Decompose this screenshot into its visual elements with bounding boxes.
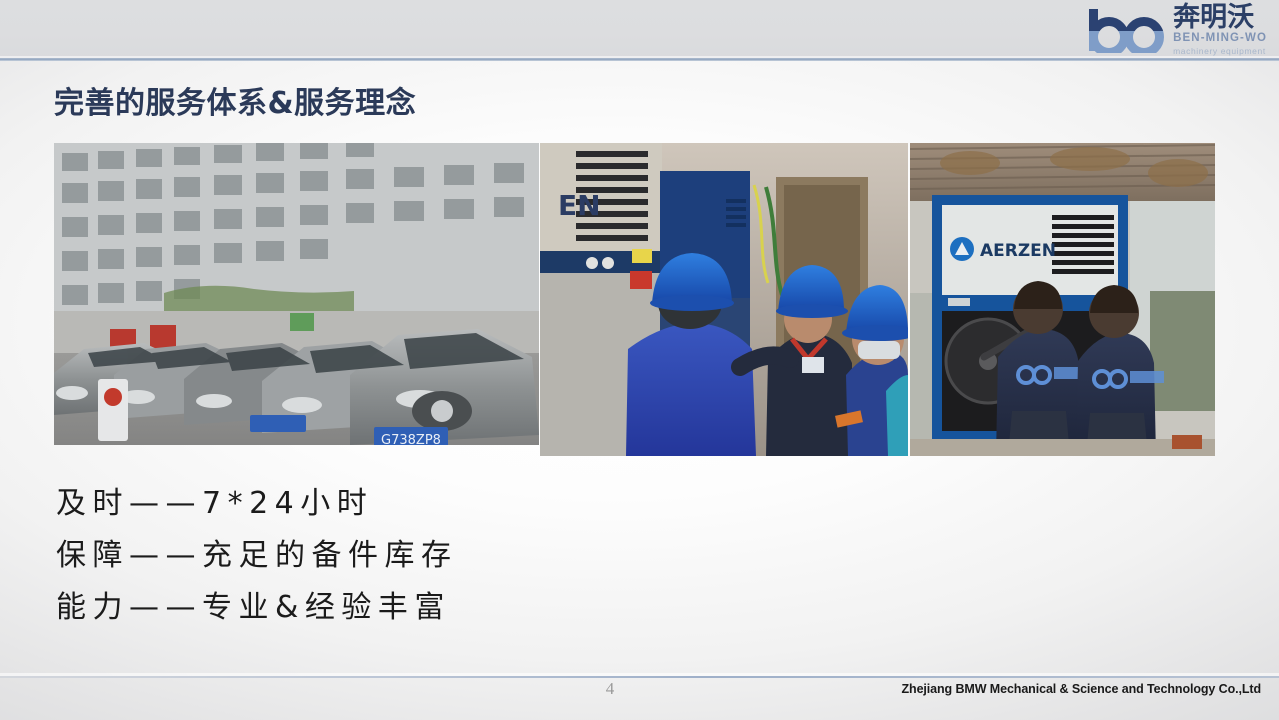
- service-line-1: 及时——7*24小时: [56, 478, 756, 530]
- photo-strip: G738ZP8: [54, 143, 1215, 456]
- service-line-3: 能力——专业&经验丰富: [56, 582, 756, 634]
- logo-wordmark: 奔明沃 BEN-MING-WO machinery equipment: [1173, 4, 1267, 56]
- svg-text:AERZEN: AERZEN: [980, 241, 1056, 261]
- logo-name-latin: BEN-MING-WO: [1173, 33, 1267, 45]
- service-principles-list: 及时——7*24小时 保障——充足的备件库存 能力——专业&经验丰富: [56, 478, 756, 634]
- bo-monogram-icon: [1083, 7, 1167, 53]
- header-divider: [0, 58, 1279, 61]
- footer-divider: [0, 676, 1279, 678]
- page-number: 4: [598, 679, 622, 699]
- logo-tagline: machinery equipment: [1173, 47, 1267, 56]
- footer-company-name: Zhejiang BMW Mechanical & Science and Te…: [902, 682, 1262, 696]
- service-line-2: 保障——充足的备件库存: [56, 530, 756, 582]
- company-logo: 奔明沃 BEN-MING-WO machinery equipment: [1083, 4, 1267, 56]
- technicians-servicing-aerzen-photo: AERZEN: [910, 143, 1215, 456]
- svg-text:EN: EN: [558, 189, 601, 222]
- slide: 奔明沃 BEN-MING-WO machinery equipment 完善的服…: [0, 0, 1279, 720]
- svg-text:G738ZP8: G738ZP8: [381, 433, 441, 445]
- parked-service-cars-photo: G738ZP8: [54, 143, 539, 445]
- page-title: 完善的服务体系&服务理念: [54, 78, 416, 122]
- technicians-inspecting-blower-photo: EN: [540, 143, 908, 456]
- logo-name-cn: 奔明沃: [1173, 4, 1267, 31]
